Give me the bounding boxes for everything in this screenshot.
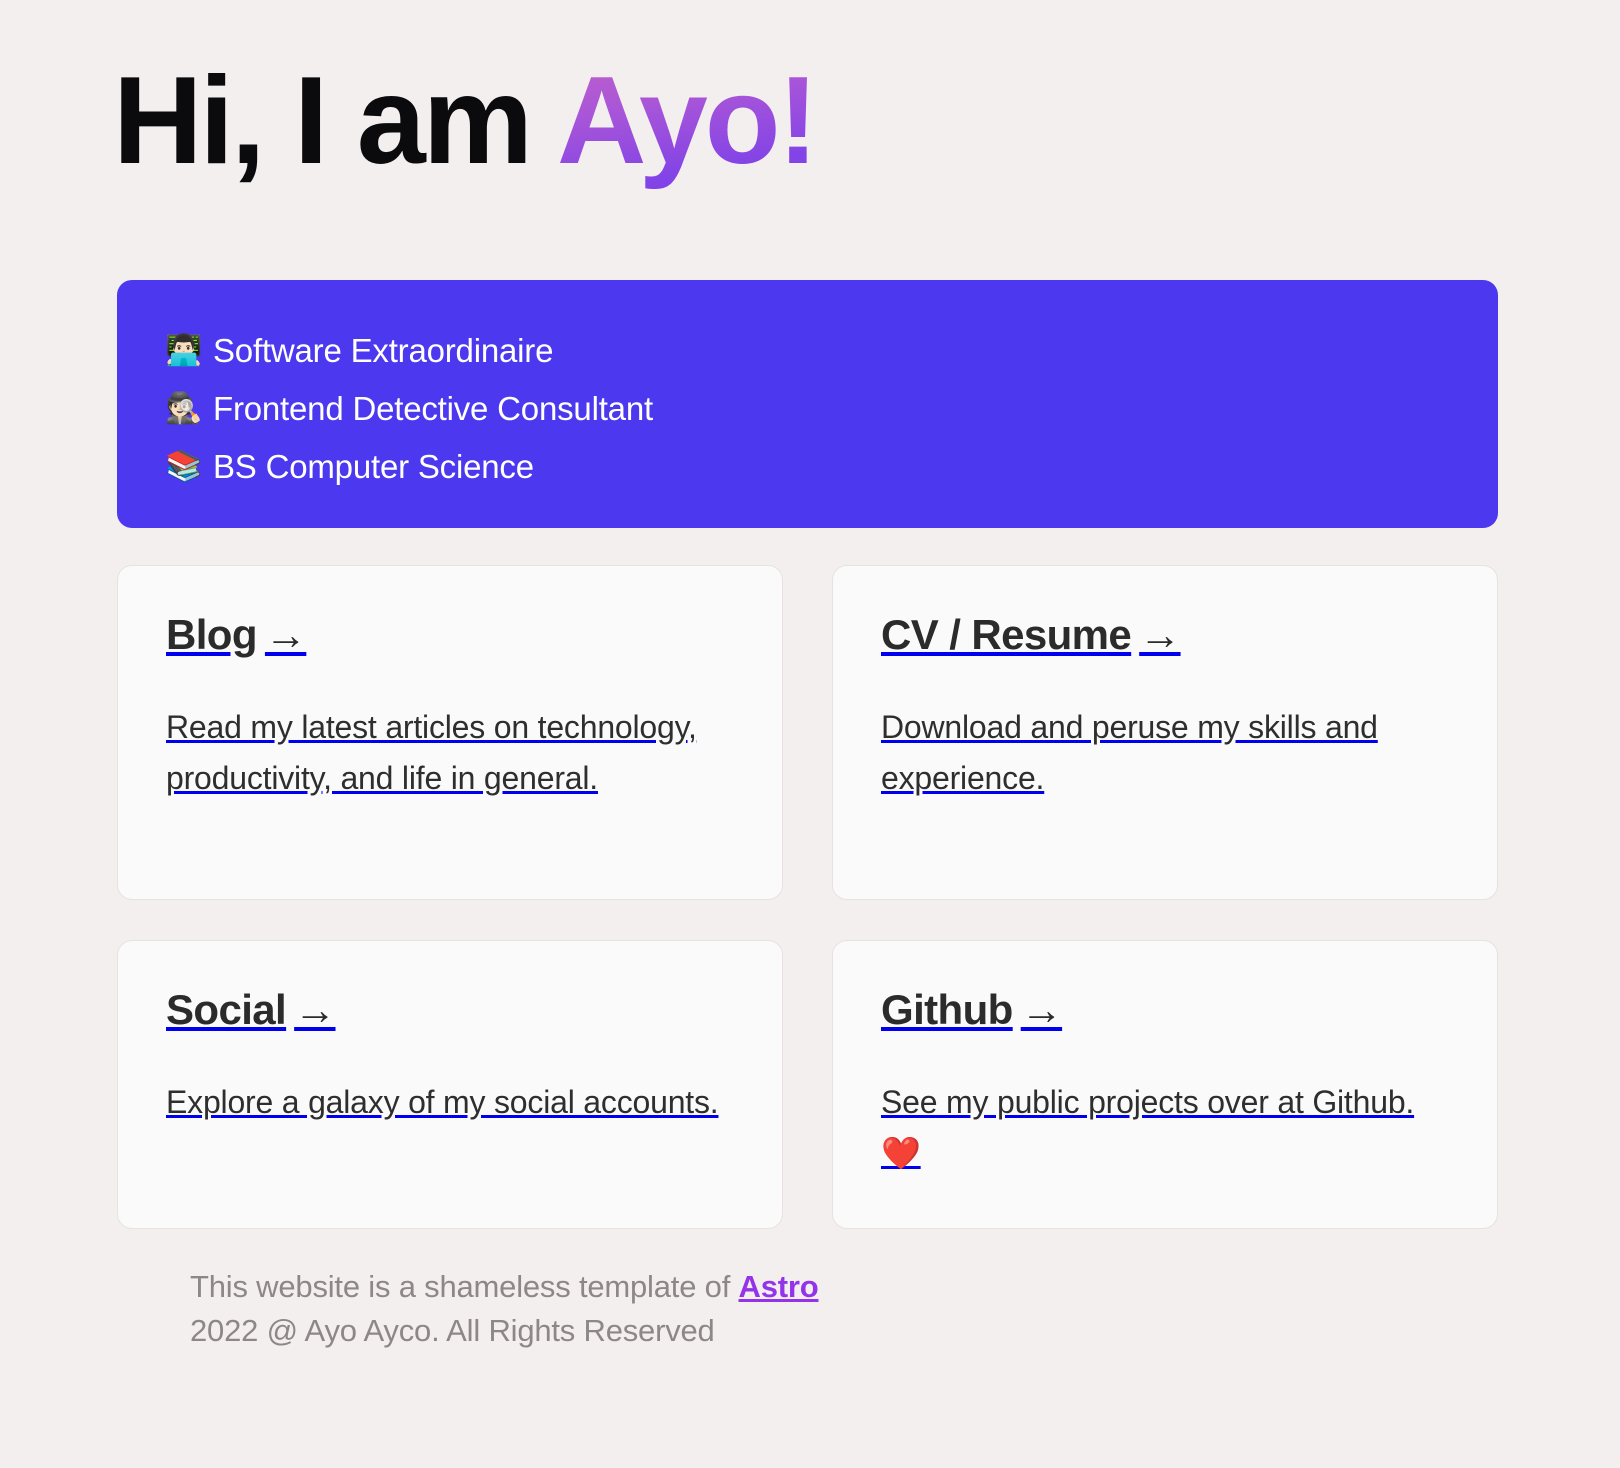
footer-credit-line: This website is a shameless template of … xyxy=(190,1265,1430,1309)
card-blog[interactable]: Blog→ Read my latest articles on technol… xyxy=(117,565,783,900)
card-title-text: Github xyxy=(881,986,1013,1033)
card-title-text: Blog xyxy=(166,611,257,658)
footer-copyright-line: 2022 @ Ayo Ayco. All Rights Reserved xyxy=(190,1309,1430,1353)
intro-item-label: Software Extraordinaire xyxy=(213,322,553,380)
intro-item-label: Frontend Detective Consultant xyxy=(213,380,653,438)
arrow-right-icon: → xyxy=(286,986,335,1033)
card-description: See my public projects over at Github. ❤… xyxy=(881,1077,1449,1178)
intro-item-label: BS Computer Science xyxy=(213,438,534,496)
hero-greeting: Hi, I am xyxy=(113,52,557,190)
list-item: 👨🏻‍💻 Software Extraordinaire xyxy=(165,322,1450,380)
card-description: Read my latest articles on technology, p… xyxy=(166,702,734,803)
card-github[interactable]: Github→ See my public projects over at G… xyxy=(832,940,1498,1229)
man-technologist-emoji: 👨🏻‍💻 xyxy=(165,336,199,366)
intro-list: 👨🏻‍💻 Software Extraordinaire 🕵🏻 Frontend… xyxy=(165,322,1450,496)
page-title: Hi, I am Ayo! xyxy=(113,52,1513,191)
hero-section: Hi, I am Ayo! xyxy=(113,52,1513,191)
intro-panel: 👨🏻‍💻 Software Extraordinaire 🕵🏻 Frontend… xyxy=(117,280,1498,528)
card-title-text: Social xyxy=(166,986,286,1033)
books-emoji: 📚 xyxy=(165,452,199,482)
site-footer: This website is a shameless template of … xyxy=(190,1265,1430,1353)
card-title-text: CV / Resume xyxy=(881,611,1131,658)
hero-name: Ayo! xyxy=(557,52,816,190)
detective-emoji: 🕵🏻 xyxy=(165,394,199,424)
card-cv-resume[interactable]: CV / Resume→ Download and peruse my skil… xyxy=(832,565,1498,900)
list-item: 🕵🏻 Frontend Detective Consultant xyxy=(165,380,1450,438)
card-title: Github→ xyxy=(881,987,1449,1033)
list-item: 📚 BS Computer Science xyxy=(165,438,1450,496)
page-root: Hi, I am Ayo! 👨🏻‍💻 Software Extraordinai… xyxy=(0,0,1620,1468)
arrow-right-icon: → xyxy=(1013,986,1062,1033)
card-title: Blog→ xyxy=(166,612,734,658)
card-description: Explore a galaxy of my social accounts. xyxy=(166,1077,734,1128)
card-social[interactable]: Social→ Explore a galaxy of my social ac… xyxy=(117,940,783,1229)
footer-credit-text: This website is a shameless template of xyxy=(190,1269,739,1304)
card-title: CV / Resume→ xyxy=(881,612,1449,658)
arrow-right-icon: → xyxy=(257,611,306,658)
link-card-grid: Blog→ Read my latest articles on technol… xyxy=(117,565,1498,1229)
arrow-right-icon: → xyxy=(1131,611,1180,658)
astro-link[interactable]: Astro xyxy=(739,1269,819,1304)
card-title: Social→ xyxy=(166,987,734,1033)
card-description: Download and peruse my skills and experi… xyxy=(881,702,1449,803)
